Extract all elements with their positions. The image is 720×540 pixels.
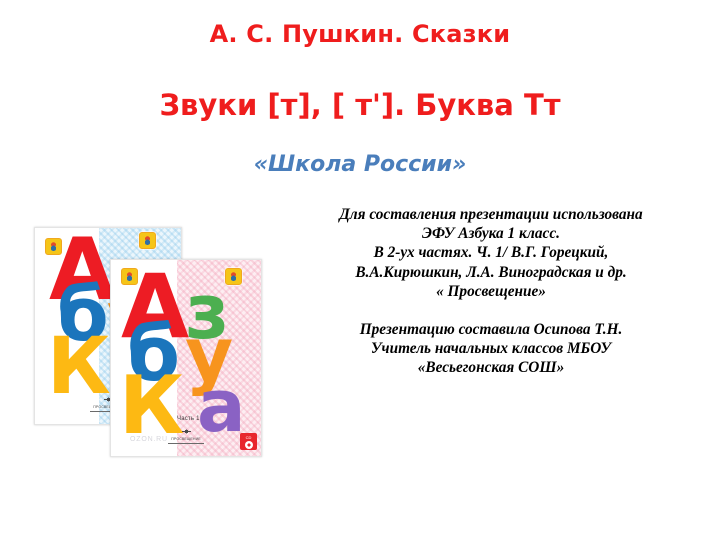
- slide-program-name: «Школа России»: [0, 152, 720, 178]
- slide-title-main: А. С. Пушкин. Сказки: [0, 20, 720, 49]
- credits-line-5: « Просвещение»: [268, 282, 714, 301]
- fgos-emblem-icon: [139, 232, 156, 249]
- credits-line-7: Учитель начальных классов МБОУ: [268, 339, 714, 358]
- credits-line-8: «Весьегонская СОШ»: [268, 358, 714, 377]
- school-russia-emblem-icon: [45, 238, 62, 255]
- cd-badge-label: CD: [246, 435, 252, 440]
- presentation-slide: А. С. Пушкин. Сказки Звуки [т], [ т']. Б…: [0, 0, 720, 540]
- textbook-covers-image: А з б у К а Часть 2 ПРОСВЕЩЕНИЕ А з б у …: [26, 205, 276, 445]
- book-cover-part-1: А з б у К а Часть 1 ПРОСВЕЩЕНИЕ CD: [110, 259, 262, 457]
- school-russia-emblem-icon: [121, 268, 138, 285]
- credits-line-1: Для составления презентации использована: [268, 205, 714, 224]
- fgos-emblem-icon: [225, 268, 242, 285]
- slide-title-subject: Звуки [т], [ т']. Буква Тт: [0, 88, 720, 123]
- cover-part-label: Часть 1: [177, 416, 200, 422]
- cover-letter-k-yellow: К: [47, 336, 111, 398]
- credits-line-3: В 2-ух частях. Ч. 1/ В.Г. Горецкий,: [268, 243, 714, 262]
- credits-line-2: ЭФУ Азбука 1 класс.: [268, 224, 714, 243]
- publisher-mark-icon: [182, 427, 191, 436]
- credits-line-6: Презентацию составила Осипова Т.Н.: [268, 320, 714, 339]
- credits-block: Для составления презентации использована…: [268, 205, 714, 378]
- stock-photo-watermark: OZON.RU: [130, 436, 168, 443]
- credits-spacer: [268, 301, 714, 320]
- cd-disc-icon: [245, 441, 253, 449]
- credits-line-4: В.А.Кирюшкин, Л.А. Виноградская и др.: [268, 263, 714, 282]
- publisher-logo-icon: ПРОСВЕЩЕНИЕ: [164, 427, 208, 444]
- publisher-rule: [168, 443, 204, 444]
- publisher-name: ПРОСВЕЩЕНИЕ: [171, 437, 201, 441]
- cd-badge-icon: CD: [240, 433, 257, 450]
